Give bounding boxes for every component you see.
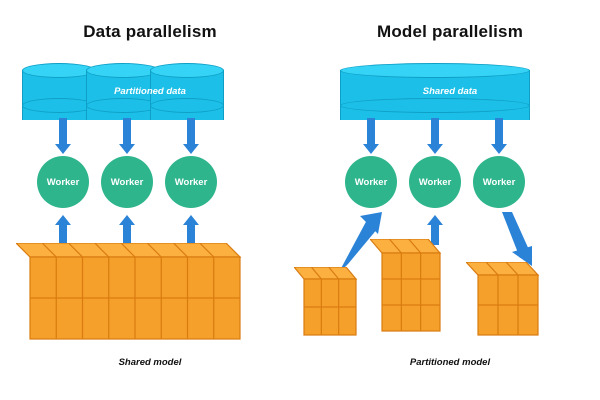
cylinder-label-partitioned-data: Partitioned data	[0, 86, 300, 97]
worker-node-1: Worker	[37, 156, 89, 208]
arrow-shaft	[495, 118, 503, 144]
caption-shared-model: Shared model	[0, 357, 300, 368]
model-shard-2	[370, 239, 450, 339]
arrow-data-to-worker-3	[491, 118, 507, 154]
arrow-shaft	[123, 118, 131, 144]
worker-label: Worker	[175, 177, 208, 188]
worker-label: Worker	[483, 177, 516, 188]
model-shard-1	[294, 267, 364, 343]
page-title-data-parallelism: Data parallelism	[0, 22, 300, 42]
arrow-data-to-worker-1	[363, 118, 379, 154]
arrow-shaft	[59, 118, 67, 144]
cylinder-bottom	[22, 98, 96, 113]
arrow-head	[363, 144, 379, 154]
worker-label: Worker	[419, 177, 452, 188]
arrow-head	[119, 144, 135, 154]
cylinder-top	[22, 63, 96, 78]
cylinder-label-shared-data: Shared data	[300, 86, 600, 97]
arrow-head	[427, 144, 443, 154]
panel-model-parallelism: Model parallelism Shared data Worker Wor…	[300, 0, 600, 400]
worker-label: Worker	[355, 177, 388, 188]
arrow-head	[183, 215, 199, 225]
worker-label: Worker	[47, 177, 80, 188]
cylinder-bottom	[150, 98, 224, 113]
page-title-model-parallelism: Model parallelism	[300, 22, 600, 42]
model-shard-3	[466, 262, 546, 344]
worker-label: Worker	[111, 177, 144, 188]
arrow-head	[183, 144, 199, 154]
arrow-shaft	[187, 118, 195, 144]
arrow-data-to-worker-1	[55, 118, 71, 154]
arrow-shaft	[367, 118, 375, 144]
panel-data-parallelism: Data parallelism Partitioned data Worker…	[0, 0, 300, 400]
cylinder-top	[150, 63, 224, 78]
worker-node-3: Worker	[165, 156, 217, 208]
arrow-head	[119, 215, 135, 225]
cylinder-bottom	[86, 98, 160, 113]
arrow-head	[55, 144, 71, 154]
cylinder-bottom	[340, 98, 530, 113]
worker-node-2: Worker	[101, 156, 153, 208]
arrow-head	[427, 215, 443, 225]
arrow-data-to-worker-3	[183, 118, 199, 154]
worker-node-1: Worker	[345, 156, 397, 208]
cylinder-top	[340, 63, 530, 78]
arrow-data-to-worker-2	[427, 118, 443, 154]
caption-partitioned-model: Partitioned model	[300, 357, 600, 368]
arrow-head	[55, 215, 71, 225]
cylinder-top	[86, 63, 160, 78]
arrow-shaft	[431, 118, 439, 144]
shared-model-block	[16, 243, 246, 348]
arrow-head	[491, 144, 507, 154]
worker-node-3: Worker	[473, 156, 525, 208]
worker-node-2: Worker	[409, 156, 461, 208]
arrow-data-to-worker-2	[119, 118, 135, 154]
